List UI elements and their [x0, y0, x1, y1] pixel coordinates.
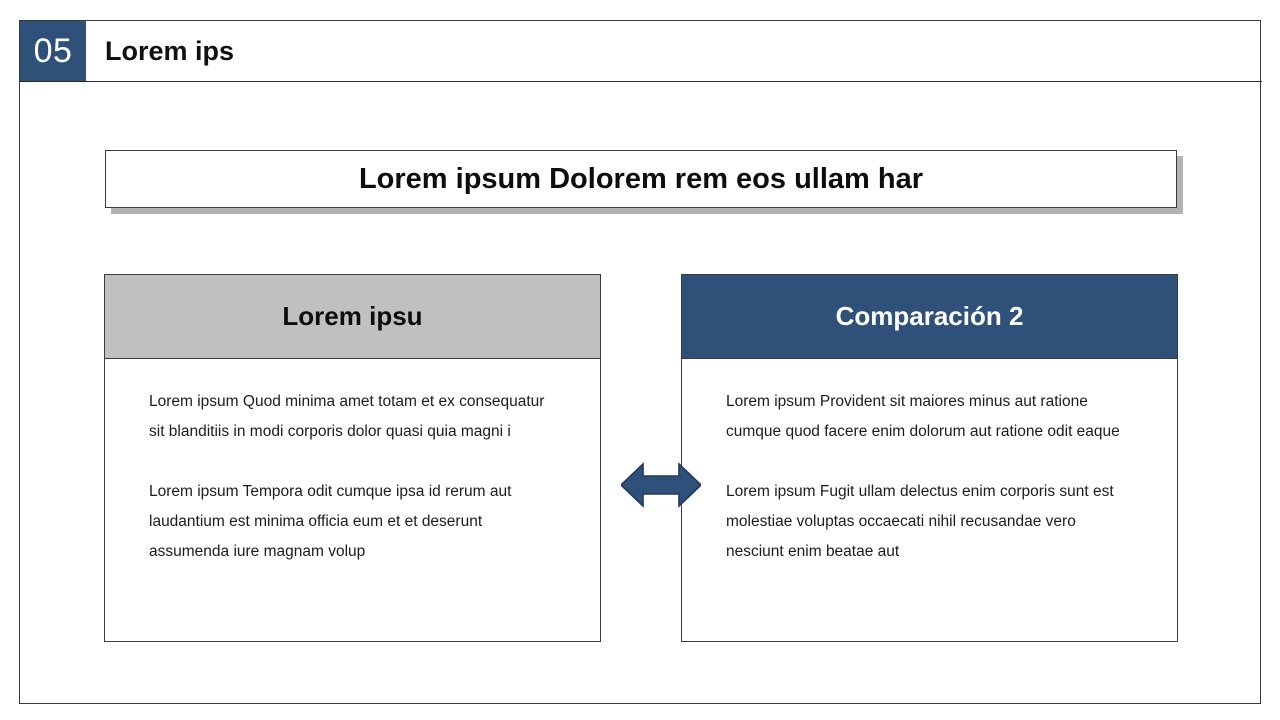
- column-right-paragraph-2: Lorem ipsum Fugit ullam delectus enim co…: [726, 477, 1133, 567]
- column-left-paragraph-2: Lorem ipsum Tempora odit cumque ipsa id …: [149, 477, 556, 567]
- arrow-shape: [621, 464, 701, 506]
- slide-canvas: 05 Lorem ips Lorem ipsum Dolorem rem eos…: [19, 20, 1261, 704]
- double-headed-arrow-icon: [621, 462, 701, 508]
- comparison-column-left: Lorem ipsu Lorem ipsum Quod minima amet …: [104, 274, 601, 642]
- column-left-paragraph-1: Lorem ipsum Quod minima amet totam et ex…: [149, 387, 556, 447]
- double-headed-arrow-svg: [621, 462, 701, 508]
- column-left-header: Lorem ipsu: [104, 274, 601, 359]
- title-banner: Lorem ipsum Dolorem rem eos ullam har: [105, 150, 1177, 208]
- column-left-heading-text: Lorem ipsu: [282, 301, 422, 332]
- title-banner-text: Lorem ipsum Dolorem rem eos ullam har: [359, 163, 923, 196]
- column-right-header: Comparación 2: [681, 274, 1178, 359]
- slide-header: 05 Lorem ips: [20, 21, 1262, 82]
- column-right-paragraph-1: Lorem ipsum Provident sit maiores minus …: [726, 387, 1133, 447]
- column-right-heading-text: Comparación 2: [836, 301, 1024, 332]
- slide-number-badge: 05: [20, 21, 86, 81]
- title-banner-container: Lorem ipsum Dolorem rem eos ullam har: [105, 150, 1177, 208]
- slide-header-title: Lorem ips: [105, 21, 234, 81]
- column-right-body: Lorem ipsum Provident sit maiores minus …: [681, 359, 1178, 642]
- comparison-column-right: Comparación 2 Lorem ipsum Provident sit …: [681, 274, 1178, 642]
- column-left-body: Lorem ipsum Quod minima amet totam et ex…: [104, 359, 601, 642]
